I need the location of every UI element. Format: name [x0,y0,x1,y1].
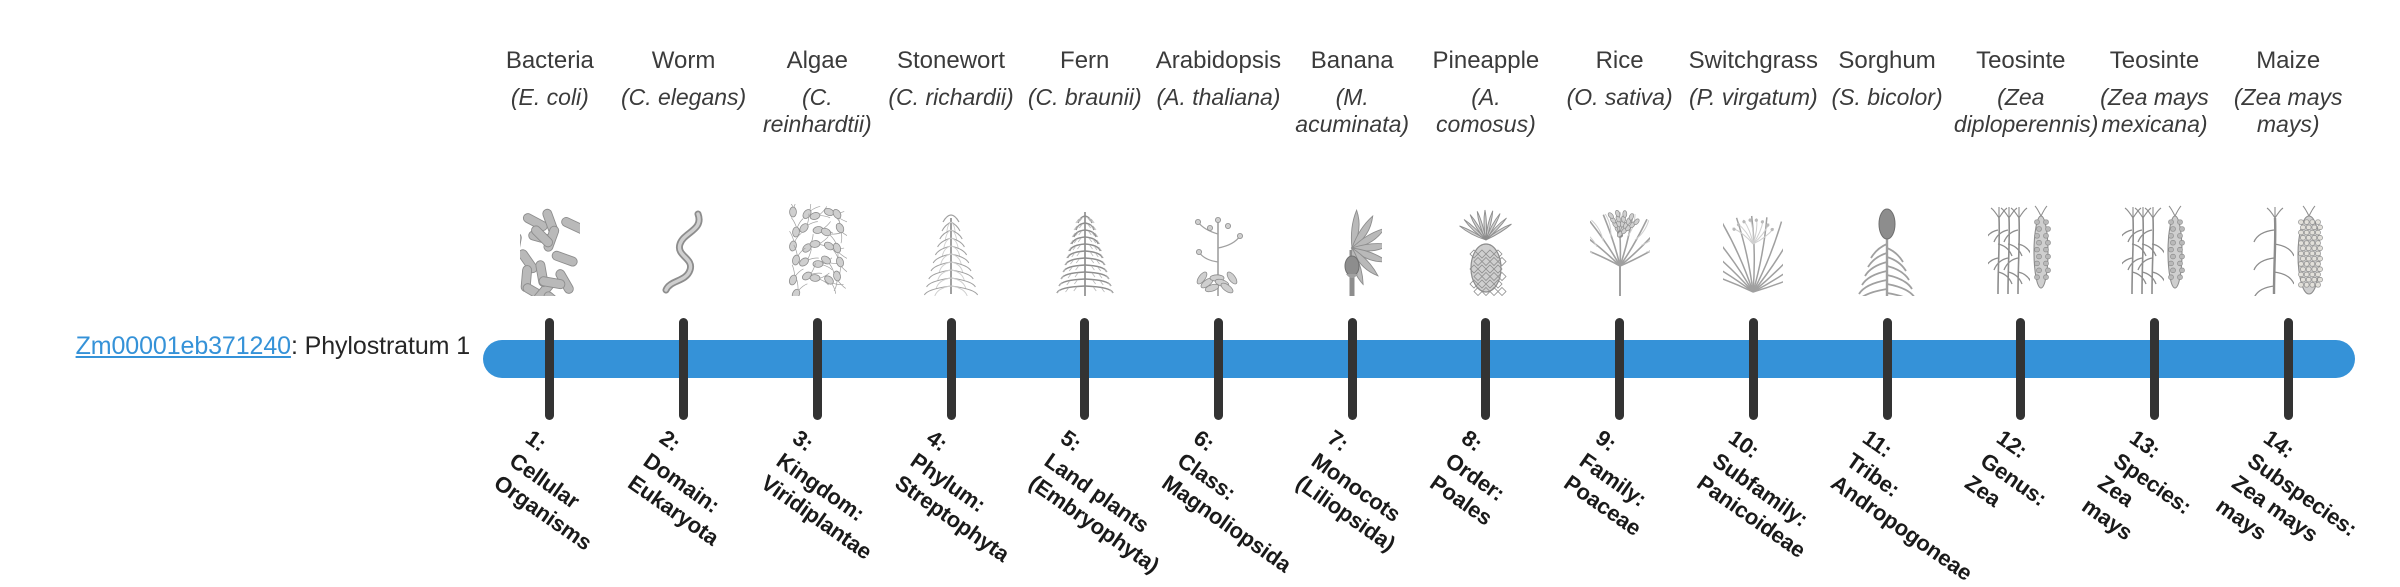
taxonomy-level-label: 1:CellularOrganisms [489,424,629,556]
taxonomy-level-label: 8:Order:Poales [1425,424,1529,532]
phylostratum-value: Phylostratum 1 [305,332,470,360]
timeline-tick [2150,318,2159,420]
species-column: Arabidopsis(A. thaliana) [1152,46,1286,296]
species-column: Teosinte(Zea diploperennis) [1954,46,2088,296]
species-column: Algae(C. reinhardtii) [750,46,884,296]
timeline-tick [1080,318,1089,420]
taxonomy-level-label: 6:Class:Magnoliopsida [1157,424,1328,578]
species-column: Switchgrass(P. virgatum) [1686,46,1820,296]
gene-id-link[interactable]: Zm00001eb371240 [76,332,291,360]
pineapple-illustration [1456,204,1516,296]
taxonomy-level-label: 4:Phylum:Streptophyta [890,424,1046,568]
species-scientific-name: (E. coli) [511,84,589,111]
species-column: Fern(C. braunii) [1018,46,1152,296]
species-column: Rice(O. sativa) [1553,46,1687,296]
phylostratum-figure: Zm00001eb371240: Phylostratum 1 Bacteria… [0,0,2400,580]
species-column: Worm(C. elegans) [617,46,751,296]
species-common-name: Stonewort [897,46,1005,75]
species-column: Bacteria(E. coli) [483,46,617,296]
species-column: Banana(M. acuminata) [1285,46,1419,296]
species-column: Pineapple(A. comosus) [1419,46,1553,296]
taxonomy-level-label: 3:Kingdom:Viridiplantae [756,424,909,566]
timeline-tick [1883,318,1892,420]
species-scientific-name: (O. sativa) [1567,84,1673,111]
species-common-name: Teosinte [2110,46,2199,75]
species-column: Sorghum(S. bicolor) [1820,46,1954,296]
species-scientific-name: (P. virgatum) [1689,84,1818,111]
species-common-name: Algae [787,46,848,75]
species-scientific-name: (C. elegans) [621,84,746,111]
species-scientific-name: (C. richardii) [888,84,1013,111]
species-column: Maize(Zea mays mays) [2221,46,2355,296]
species-scientific-name: (Zea diploperennis) [1954,84,2088,138]
switchgrass-illustration [1723,204,1783,296]
taxonomy-level-label: 13:Species:Zeamays [2077,424,2213,565]
species-scientific-name: (M. acuminata) [1285,84,1419,138]
species-scientific-name: (S. bicolor) [1831,84,1942,111]
species-common-name: Rice [1596,46,1644,75]
timeline-tick [2016,318,2025,420]
taxonomy-level-label: 2:Domain:Eukaryota [622,424,755,552]
species-header-row: Bacteria(E. coli)Worm(C. elegans)Algae(C… [483,46,2355,296]
species-scientific-name: (Zea mays mexicana) [2088,84,2222,138]
timeline-tick [947,318,956,420]
bacteria-illustration [520,204,580,296]
timeline-tick [2284,318,2293,420]
species-scientific-name: (Zea mays mays) [2221,84,2355,138]
banana-illustration [1322,204,1382,296]
timeline-tick [1214,318,1223,420]
timeline-tick [1348,318,1357,420]
timeline-tick [679,318,688,420]
species-common-name: Pineapple [1433,46,1540,75]
species-common-name: Banana [1311,46,1394,75]
species-scientific-name: (C. braunii) [1028,84,1142,111]
species-scientific-name: (C. reinhardtii) [750,84,884,138]
timeline-ticks [483,318,2355,420]
timeline-tick [545,318,554,420]
gene-label-separator: : [291,332,305,360]
species-common-name: Bacteria [506,46,594,75]
teosinte-diploperennis-illustration [1988,204,2053,296]
taxonomy-level-label: 14:Subspecies:Zea maysmays [2211,424,2378,587]
species-common-name: Switchgrass [1689,46,1818,75]
rice-illustration [1590,204,1650,296]
species-column: Teosinte(Zea mays mexicana) [2088,46,2222,296]
sorghum-illustration [1857,204,1917,296]
species-scientific-name: (A. thaliana) [1156,84,1280,111]
teosinte-mexicana-illustration [2122,204,2187,296]
timeline-tick [1481,318,1490,420]
species-common-name: Teosinte [1976,46,2065,75]
arabidopsis-illustration [1188,204,1248,296]
algae-illustration [787,204,847,296]
timeline-tick [1749,318,1758,420]
taxonomy-level-labels: 1:CellularOrganisms2:Domain:Eukaryota3:K… [483,424,2355,580]
species-common-name: Sorghum [1838,46,1935,75]
species-common-name: Arabidopsis [1156,46,1281,75]
taxonomy-level-label: 10:Subfamily:Panicoideae [1692,424,1843,564]
worm-illustration [654,204,714,296]
timeline-tick [1615,318,1624,420]
species-common-name: Worm [652,46,716,75]
species-scientific-name: (A. comosus) [1419,84,1553,138]
taxonomy-level-label: 5:Land plants(Embryophyta) [1023,424,1195,579]
species-column: Stonewort(C. richardii) [884,46,1018,296]
fern-illustration [1055,204,1115,296]
species-common-name: Maize [2256,46,2320,75]
species-common-name: Fern [1060,46,1109,75]
taxonomy-level-label: 9:Family:Poaceae [1558,424,1677,542]
stonewort-illustration [921,204,981,296]
maize-illustration [2252,204,2325,296]
timeline-tick [813,318,822,420]
gene-phylostratum-label: Zm00001eb371240: Phylostratum 1 [0,332,470,361]
taxonomy-level-label: 7:Monocots(Liliopsida) [1291,424,1432,558]
